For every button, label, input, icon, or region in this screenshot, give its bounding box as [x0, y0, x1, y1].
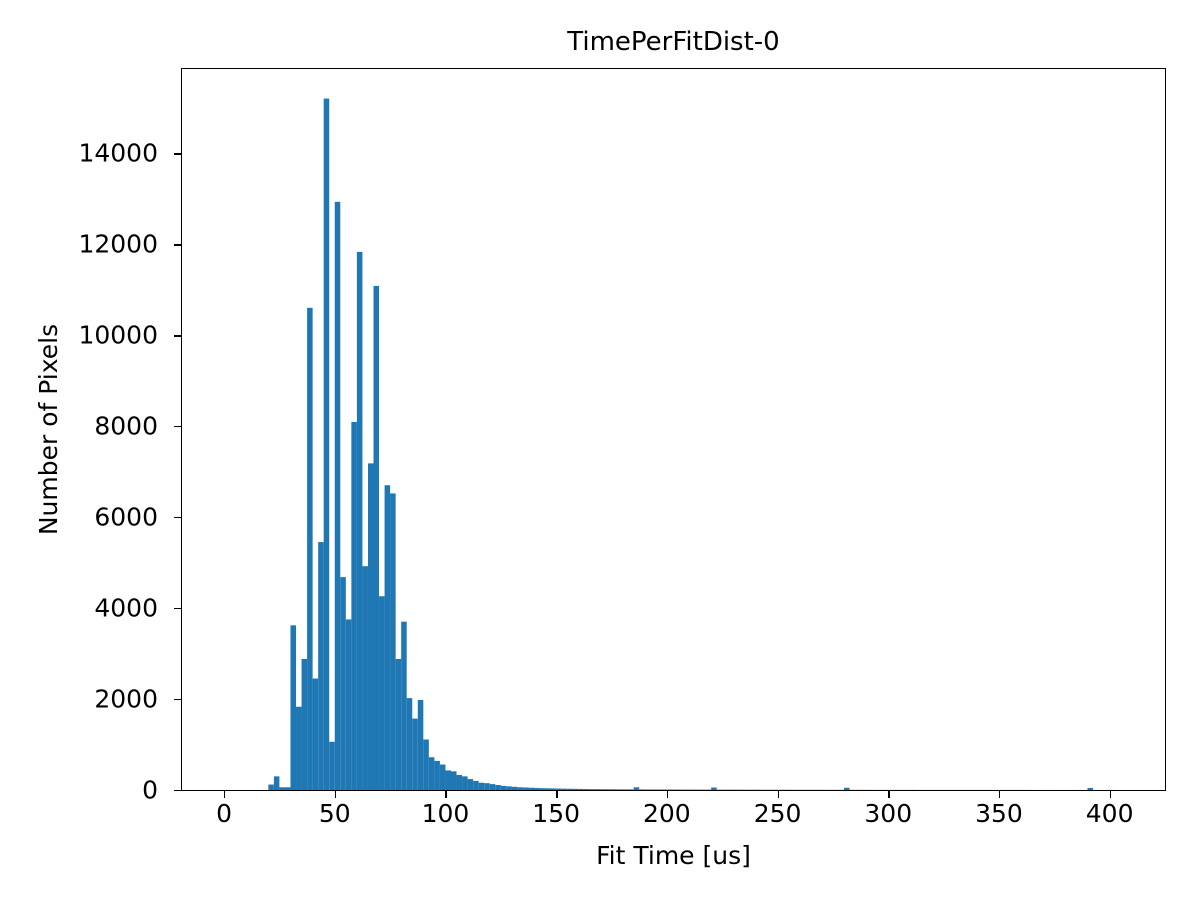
x-axis-tick-label: 300	[864, 800, 912, 828]
histogram-bar	[318, 542, 324, 790]
histogram-bar	[495, 785, 501, 790]
x-axis-tick-mark	[556, 791, 557, 798]
y-axis-tick-label: 8000	[94, 414, 168, 439]
y-axis-tick-mark	[174, 608, 181, 609]
x-axis-tick-mark	[335, 791, 336, 798]
x-axis-tick-label: 250	[754, 800, 802, 828]
histogram-bar	[545, 788, 551, 790]
y-axis-tick-mark	[174, 244, 181, 245]
histogram-bar	[440, 765, 446, 790]
histogram-bar	[407, 698, 413, 790]
y-axis-tick-mark	[174, 699, 181, 700]
histogram-bar	[351, 422, 357, 790]
histogram-bar	[302, 659, 308, 790]
histogram-bar	[528, 788, 534, 790]
histogram-bars	[182, 69, 1165, 790]
histogram-bar	[517, 787, 523, 790]
x-axis-tick-mark	[888, 791, 889, 798]
histogram-bar	[573, 789, 579, 790]
histogram-bar	[307, 308, 313, 790]
histogram-bar	[551, 788, 557, 790]
histogram-bar	[661, 789, 667, 790]
histogram-bar	[401, 622, 407, 790]
histogram-bar	[412, 719, 418, 790]
histogram-bar	[501, 786, 507, 790]
histogram-bar	[1088, 788, 1094, 790]
histogram-bar	[540, 788, 546, 790]
histogram-bar	[623, 789, 629, 790]
y-axis-tick-label: 6000	[94, 505, 168, 530]
x-axis-tick-mark	[1110, 791, 1111, 798]
histogram-bar	[512, 787, 518, 790]
plot-area	[182, 69, 1165, 790]
histogram-bar	[274, 776, 280, 790]
x-axis-tick-label: 350	[975, 800, 1023, 828]
histogram-bar	[578, 789, 584, 790]
y-axis-tick-mark	[174, 426, 181, 427]
histogram-bar	[523, 788, 529, 791]
histogram-figure: TimePerFitDist-0 Number of Pixels 020004…	[0, 0, 1200, 900]
histogram-bar	[473, 781, 479, 790]
histogram-bar	[396, 659, 402, 790]
histogram-bar	[567, 789, 573, 790]
y-axis-tick-label: 0	[142, 778, 168, 803]
histogram-bar	[589, 789, 595, 790]
histogram-bar	[484, 783, 490, 790]
histogram-bar	[711, 788, 717, 791]
histogram-bar	[628, 789, 634, 790]
histogram-bar	[451, 771, 457, 790]
y-axis-tick-label: 4000	[94, 596, 168, 621]
histogram-bar	[385, 485, 391, 790]
x-axis-tick-mark	[667, 791, 668, 798]
x-axis-tick-mark	[999, 791, 1000, 798]
y-axis-tick-label: 12000	[78, 232, 168, 257]
histogram-bar	[672, 790, 678, 791]
histogram-bar	[667, 790, 673, 791]
histogram-bar	[434, 761, 440, 790]
histogram-bar	[324, 99, 330, 790]
histogram-bar	[313, 679, 319, 790]
histogram-bar	[556, 789, 562, 790]
histogram-bar	[490, 784, 496, 790]
histogram-bar	[457, 775, 463, 790]
x-axis-tick-label: 50	[319, 800, 351, 828]
y-axis-tick-labels: 02000400060008000100001200014000	[0, 68, 168, 791]
x-axis-tick-mark	[778, 791, 779, 798]
histogram-bar	[639, 789, 645, 790]
histogram-bar	[468, 779, 474, 790]
histogram-bar	[445, 770, 451, 790]
x-axis-tick-label: 200	[643, 800, 691, 828]
x-axis-tick-label: 100	[422, 800, 470, 828]
page-title: TimePerFitDist-0	[181, 26, 1166, 58]
histogram-bar	[357, 252, 363, 790]
y-axis-tick-mark	[174, 790, 181, 791]
y-axis-tick-label: 10000	[78, 323, 168, 348]
histogram-bar	[329, 742, 335, 790]
histogram-bar	[285, 787, 291, 790]
histogram-bar	[600, 789, 606, 790]
histogram-bar	[368, 463, 374, 790]
histogram-bar	[584, 789, 590, 790]
x-axis-tick-label: 0	[216, 800, 232, 828]
histogram-bar	[362, 566, 368, 790]
histogram-bar	[335, 202, 341, 790]
histogram-bar	[379, 596, 385, 790]
histogram-bar	[279, 787, 285, 790]
y-axis-tick-label: 2000	[94, 687, 168, 712]
histogram-bar	[562, 789, 568, 790]
histogram-bar	[423, 740, 429, 790]
histogram-bar	[617, 789, 623, 790]
y-axis-tick-mark	[174, 517, 181, 518]
histogram-bar	[534, 788, 540, 790]
plot-axes-frame	[181, 68, 1166, 791]
histogram-bar	[429, 757, 435, 790]
x-axis-label: Fit Time [us]	[181, 841, 1166, 871]
histogram-bar	[479, 783, 485, 790]
x-axis-tick-label: 400	[1086, 800, 1134, 828]
histogram-bar	[268, 785, 274, 790]
histogram-bar	[390, 493, 396, 790]
histogram-bar	[606, 789, 612, 790]
histogram-bar	[340, 577, 346, 790]
x-axis-tick-mark	[224, 791, 225, 798]
y-axis-tick-mark	[174, 335, 181, 336]
x-axis-tick-labels: 050100150200250300350400	[0, 800, 1200, 834]
histogram-bar	[656, 789, 662, 790]
histogram-bar	[634, 787, 640, 790]
histogram-bar	[595, 789, 601, 790]
histogram-bar	[346, 619, 352, 790]
histogram-bar	[645, 789, 651, 790]
histogram-bar	[418, 700, 424, 790]
histogram-bar	[374, 286, 380, 790]
histogram-bar	[650, 789, 656, 790]
x-axis-tick-label: 150	[532, 800, 580, 828]
y-axis-tick-label: 14000	[78, 141, 168, 166]
histogram-bar	[296, 707, 302, 790]
histogram-bar	[506, 786, 512, 790]
histogram-bar	[612, 789, 618, 790]
x-axis-tick-mark	[445, 791, 446, 798]
histogram-bar	[844, 788, 850, 790]
y-axis-tick-mark	[174, 153, 181, 154]
histogram-bar	[462, 776, 468, 790]
histogram-bar	[290, 625, 296, 790]
